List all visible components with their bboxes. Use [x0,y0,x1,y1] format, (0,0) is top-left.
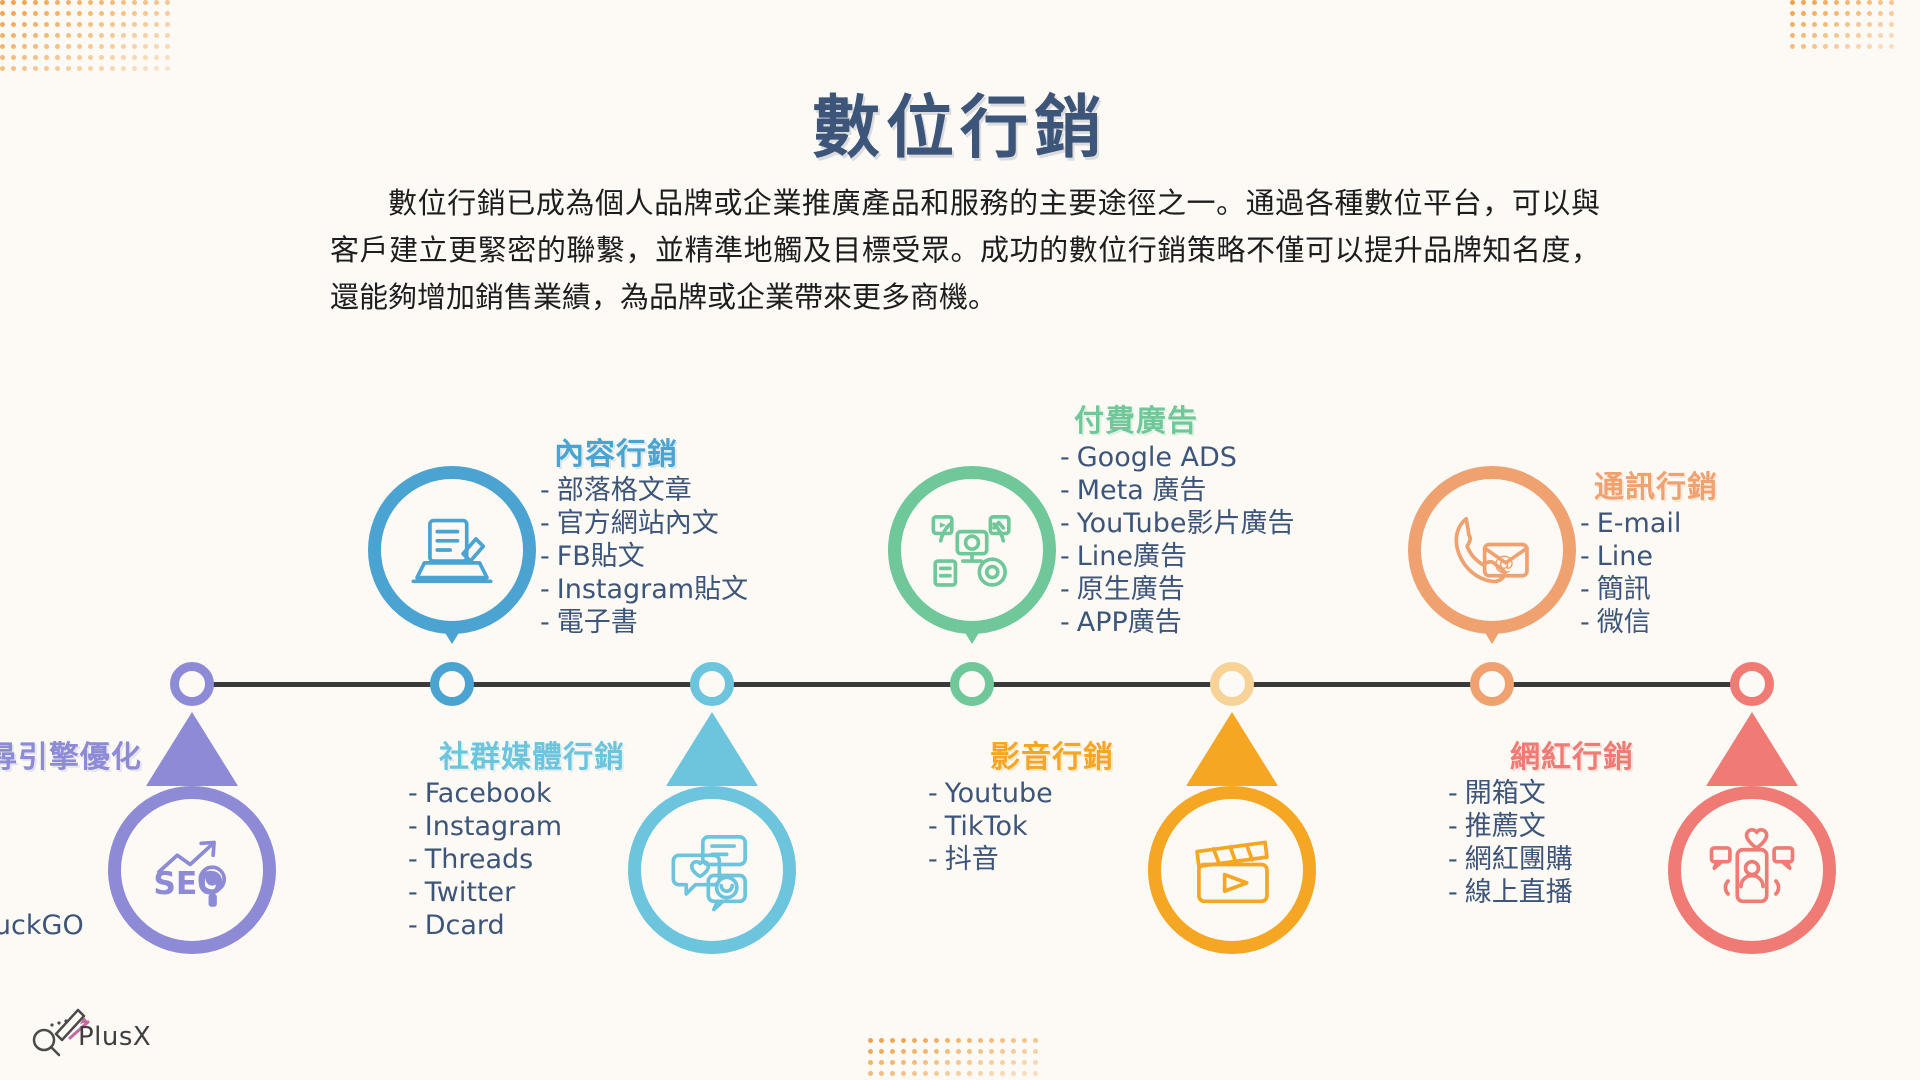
list-item: -FB貼文 [536,541,748,574]
timeline-node-messaging[interactable] [1470,662,1514,706]
list-item: -電子書 [536,607,748,640]
timeline-node-paid-ads[interactable] [950,662,994,706]
marker-pin-messaging[interactable]: @ [1408,466,1576,634]
bullet-dash: - [1060,508,1070,539]
list-item: -Threads [404,844,682,877]
list-item: -Google ADS [1056,442,1295,475]
bullet-dash: - [1060,442,1070,473]
list-item: -TikTok [924,811,1202,844]
list-item: -Google [0,778,162,811]
plusx-logo: PlusX [26,1000,176,1062]
section-content: 內容行銷-部落格文章-官方網站內文-FB貼文-Instagram貼文-電子書 [536,429,748,640]
list-item-label: Line廣告 [1077,541,1187,572]
list-item-label: 線上直播 [1465,877,1573,908]
list-item: -Yahoo [0,811,162,844]
list-item: -官方網站內文 [536,508,748,541]
list-item-label: 開箱文 [1465,778,1546,809]
bullet-dash: - [1580,541,1590,572]
bullet-dash: - [1060,541,1070,572]
section-paid-ads: 付費廣告-Google ADS-Meta 廣告-YouTube影片廣告-Line… [1056,396,1295,640]
list-item-label: 簡訊 [1597,574,1651,605]
list-item-label: Dcard [425,910,505,941]
bullet-dash: - [928,844,938,875]
bullet-dash: - [1580,574,1590,605]
bullet-dash: - [1448,877,1458,908]
list-item-label: Threads [425,844,533,875]
section-title-social: 社群媒體行銷 [382,732,682,776]
bullet-dash: - [928,778,938,809]
bullet-dash: - [408,778,418,809]
section-influencer: 網紅行銷-開箱文-推薦文-網紅團購-線上直播 [1422,732,1722,910]
section-seo: SEO搜尋引擎優化-Google-Yahoo-Bing-Baidu-DuckDu… [0,732,162,943]
bullet-dash: - [1448,844,1458,875]
list-item: -開箱文 [1444,778,1722,811]
list-item-label: FB貼文 [557,541,645,572]
bullet-dash: - [1580,508,1590,539]
list-item: -Instagram [404,811,682,844]
bullet-dash: - [1060,475,1070,506]
bullet-dash: - [540,475,550,506]
bullet-dash: - [1448,778,1458,809]
list-item-label: Google ADS [1077,442,1237,473]
list-item: -Meta 廣告 [1056,475,1295,508]
list-item-label: Facebook [425,778,552,809]
timeline-node-influencer[interactable] [1730,662,1774,706]
list-item: -推薦文 [1444,811,1722,844]
list-item-label: Twitter [425,877,516,908]
bullet-dash: - [408,811,418,842]
list-item: -線上直播 [1444,877,1722,910]
bullet-dash: - [540,508,550,539]
list-item-label: TikTok [945,811,1028,842]
section-title-seo: SEO搜尋引擎優化 [0,732,162,776]
section-title-content: 內容行銷 [536,429,748,473]
section-list-seo: -Google-Yahoo-Bing-Baidu-DuckDuckGO [0,778,162,943]
list-item: -YouTube影片廣告 [1056,508,1295,541]
bullet-dash: - [1580,607,1590,638]
bullet-dash: - [1448,811,1458,842]
bullet-dash: - [1060,574,1070,605]
timeline-node-seo[interactable] [170,662,214,706]
bullet-dash: - [540,574,550,605]
timeline-node-social[interactable] [690,662,734,706]
page-title: 數位行銷 [0,72,1920,171]
list-item-label: 部落格文章 [557,475,692,506]
section-list-social: -Facebook-Instagram-Threads-Twitter-Dcar… [382,778,682,943]
timeline-node-video[interactable] [1210,662,1254,706]
list-item-label: DuckDuckGO [0,910,84,941]
marker-pin-content[interactable] [368,466,536,634]
list-item: -Youtube [924,778,1202,811]
list-item-label: E-mail [1597,508,1682,539]
list-item: -抖音 [924,844,1202,877]
bullet-dash: - [540,541,550,572]
list-item-label: Instagram [425,811,562,842]
section-title-video: 影音行銷 [902,732,1202,776]
list-item: -Dcard [404,910,682,943]
list-item-label: 微信 [1597,607,1651,638]
list-item-label: YouTube影片廣告 [1077,508,1295,539]
list-item-label: 推薦文 [1465,811,1546,842]
list-item: -部落格文章 [536,475,748,508]
list-item-label: 電子書 [557,607,638,638]
timeline-node-content[interactable] [430,662,474,706]
list-item: -網紅團購 [1444,844,1722,877]
list-item-label: Line [1597,541,1653,572]
list-item: -原生廣告 [1056,574,1295,607]
section-list-messaging: -E-mail-Line-簡訊-微信 [1576,508,1718,640]
list-item: -DuckDuckGO [0,910,162,943]
email-phone-icon: @ [1408,466,1576,634]
list-item: -Instagram貼文 [536,574,748,607]
bullet-dash: - [540,607,550,638]
list-item: -微信 [1576,607,1718,640]
bullet-dash: - [408,877,418,908]
list-item: -Line廣告 [1056,541,1295,574]
section-list-content: -部落格文章-官方網站內文-FB貼文-Instagram貼文-電子書 [536,475,748,640]
ads-megaphone-icon [888,466,1056,634]
logo-text: PlusX [78,1022,151,1052]
laptop-writing-icon [368,466,536,634]
list-item: -簡訊 [1576,574,1718,607]
list-item: -Line [1576,541,1718,574]
bullet-dash: - [408,844,418,875]
list-item: -APP廣告 [1056,607,1295,640]
list-item: -Twitter [404,877,682,910]
section-title-influencer: 網紅行銷 [1422,732,1722,776]
section-messaging: 通訊行銷-E-mail-Line-簡訊-微信 [1576,462,1718,640]
list-item-label: 抖音 [945,844,999,875]
list-item-label: Youtube [945,778,1053,809]
bullet-dash: - [1060,607,1070,638]
bullet-dash: - [928,811,938,842]
list-item: -Facebook [404,778,682,811]
list-item-label: 網紅團購 [1465,844,1573,875]
section-list-paid-ads: -Google ADS-Meta 廣告-YouTube影片廣告-Line廣告-原… [1056,442,1295,640]
list-item-label: Meta 廣告 [1077,475,1207,506]
section-video: 影音行銷-Youtube-TikTok-抖音 [902,732,1202,877]
section-title-messaging: 通訊行銷 [1576,462,1718,506]
list-item: -Baidu [0,877,162,910]
intro-paragraph: 數位行銷已成為個人品牌或企業推廣產品和服務的主要途徑之一。通過各種數位平台，可以… [330,180,1600,321]
marker-pin-paid-ads[interactable] [888,466,1056,634]
list-item-label: APP廣告 [1077,607,1182,638]
list-item: -E-mail [1576,508,1718,541]
section-list-influencer: -開箱文-推薦文-網紅團購-線上直播 [1422,778,1722,910]
list-item-label: Instagram貼文 [557,574,748,605]
list-item: -Bing [0,844,162,877]
bullet-dash: - [408,910,418,941]
section-list-video: -Youtube-TikTok-抖音 [902,778,1202,877]
list-item-label: 原生廣告 [1077,574,1185,605]
section-title-paid-ads: 付費廣告 [1056,396,1295,440]
svg-text:@: @ [1494,551,1514,575]
list-item-label: 官方網站內文 [557,508,719,539]
section-social: 社群媒體行銷-Facebook-Instagram-Threads-Twitte… [382,732,682,943]
